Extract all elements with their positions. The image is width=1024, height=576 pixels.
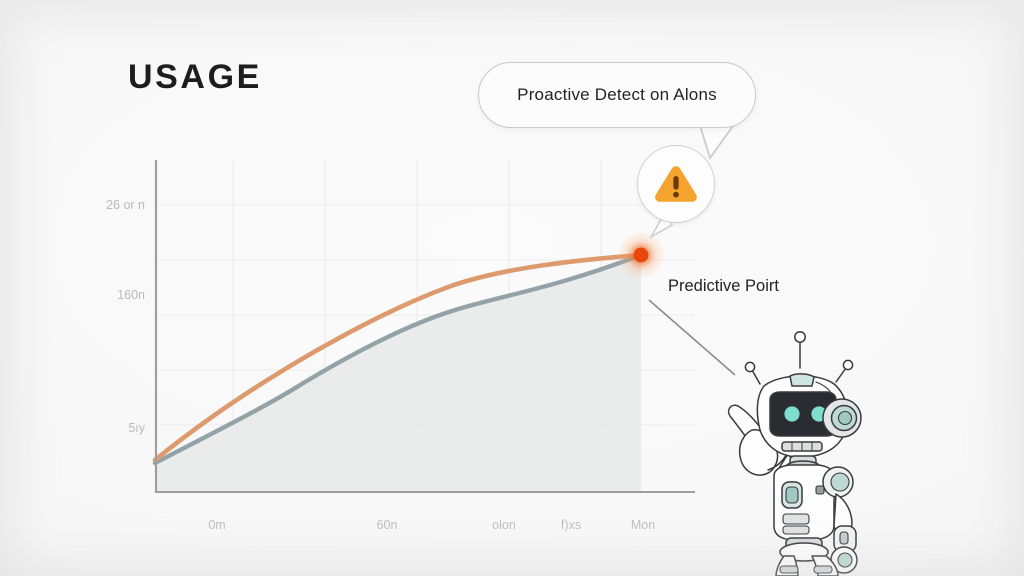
robot-head	[757, 374, 861, 457]
y-tick-label-2: 5ıy	[128, 421, 145, 435]
x-tick-label-1: 60n	[377, 518, 398, 532]
x-tick-label-0: 0m	[208, 518, 225, 532]
canvas: USAGE	[0, 0, 1024, 576]
speech-bubble-text: Proactive Detect on Alons	[517, 85, 717, 105]
y-tick-label-0: 26 or n	[106, 198, 145, 212]
x-tick-label-4: Mon	[631, 518, 655, 532]
speech-bubble[interactable]: Proactive Detect on Alons	[478, 62, 756, 128]
predictive-point-label: Predictive Poirt	[668, 277, 779, 296]
usage-line-chart: 26 or n 160n 5ıy 0m 60n olon f)xs Mon	[155, 160, 695, 500]
chart-plot-area	[155, 160, 695, 500]
y-tick-label-1: 160n	[117, 288, 145, 302]
page-title: USAGE	[128, 58, 262, 97]
predictive-point-dot	[634, 248, 649, 263]
chart-area-fill	[155, 255, 641, 492]
x-tick-label-2: olon	[492, 518, 516, 532]
assistant-robot	[712, 330, 888, 576]
x-tick-label-3: f)xs	[561, 518, 581, 532]
warning-triangle-icon	[653, 163, 699, 205]
